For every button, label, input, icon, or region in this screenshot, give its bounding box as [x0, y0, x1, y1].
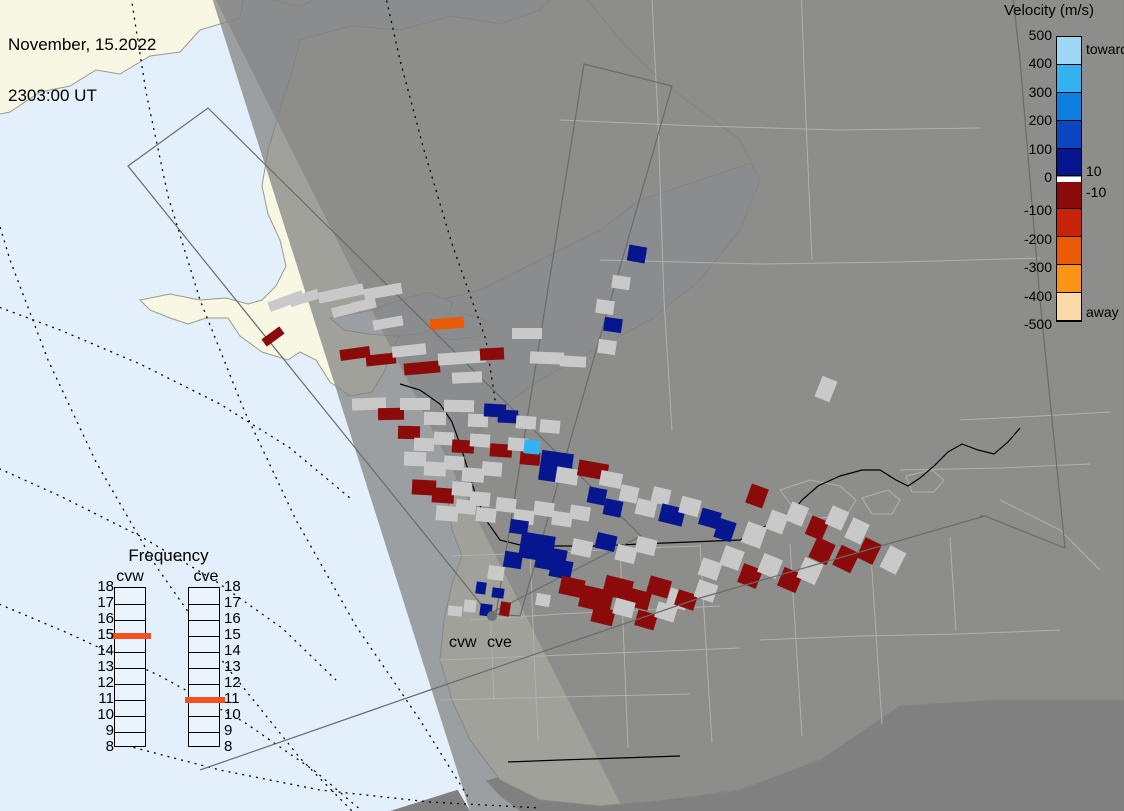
- velocity-colorbar: Velocity (m/s) 5004003002001000-100-200-…: [1000, 2, 1124, 332]
- frequency-column-cvw: cvw18171615141312111098: [98, 568, 162, 747]
- timestamp-date: November, 15.2022: [8, 36, 156, 53]
- colorbar-away-label: away: [1086, 304, 1119, 320]
- frequency-tick-label: 16: [224, 610, 241, 627]
- colorbar-swatch: [1057, 121, 1081, 149]
- frequency-legend-title: Frequency: [86, 546, 251, 566]
- frequency-tick-label: 9: [224, 722, 232, 739]
- colorbar-swatch: [1057, 293, 1081, 321]
- velocity-cell-noscatter: [444, 400, 474, 413]
- frequency-scale-divider: [115, 732, 145, 733]
- velocity-cell: [491, 587, 504, 599]
- frequency-scale-divider: [115, 716, 145, 717]
- frequency-marker-cve: [185, 697, 225, 703]
- frequency-tick-label: 12: [224, 674, 241, 691]
- colorbar-swatch: [1057, 209, 1081, 237]
- colorbar-tick-label: -100: [1000, 202, 1052, 218]
- frequency-tick-label: 9: [106, 722, 114, 739]
- velocity-cell-noscatter: [448, 605, 463, 616]
- velocity-cell: [475, 581, 487, 594]
- velocity-cell-noscatter: [424, 461, 447, 476]
- velocity-cell: [523, 439, 540, 455]
- frequency-tick-label: 15: [97, 626, 114, 643]
- frequency-scale-divider: [189, 668, 219, 669]
- radar-site-marker: [487, 611, 497, 621]
- timestamp: November, 15.2022 2303:00 UT: [8, 2, 156, 138]
- velocity-cell-noscatter: [512, 328, 542, 339]
- velocity-cell: [498, 409, 519, 423]
- velocity-cell: [432, 487, 455, 503]
- colorbar-tick-label: -200: [1000, 231, 1052, 247]
- velocity-cell-noscatter: [560, 355, 587, 367]
- colorbar-title: Velocity (m/s): [1004, 2, 1124, 19]
- frequency-scale-divider: [189, 620, 219, 621]
- velocity-cell-noscatter: [463, 599, 476, 612]
- colorbar-tick-label: -400: [1000, 288, 1052, 304]
- frequency-tick-label: 10: [97, 706, 114, 723]
- velocity-cell-noscatter: [452, 371, 483, 384]
- velocity-cell: [398, 426, 420, 439]
- velocity-cell-noscatter: [481, 461, 502, 477]
- frequency-scale-divider: [115, 700, 145, 701]
- velocity-cell: [480, 347, 505, 360]
- velocity-cell-noscatter: [404, 452, 426, 467]
- frequency-scale-divider: [189, 732, 219, 733]
- colorbar-tick-label: 500: [1000, 27, 1052, 43]
- frequency-tick-label: 14: [224, 642, 241, 659]
- velocity-cell-noscatter: [595, 299, 615, 315]
- velocity-cell-noscatter: [435, 505, 458, 522]
- colorbar-tick-label: -300: [1000, 259, 1052, 275]
- frequency-tick-label: 12: [97, 674, 114, 691]
- velocity-cell-noscatter: [451, 481, 472, 497]
- frequency-scale-divider: [189, 716, 219, 717]
- velocity-cell-noscatter: [516, 415, 537, 429]
- velocity-cell: [627, 245, 648, 264]
- frequency-scale-divider: [115, 604, 145, 605]
- frequency-scale-divider: [189, 604, 219, 605]
- frequency-marker-cvw: [111, 633, 151, 639]
- velocity-cell-noscatter: [414, 438, 434, 452]
- frequency-tick-label: 17: [97, 594, 114, 611]
- frequency-tick-label: 8: [106, 738, 114, 755]
- frequency-tick-label: 14: [97, 642, 114, 659]
- frequency-tick-label: 13: [224, 658, 241, 675]
- frequency-scale-divider: [189, 684, 219, 685]
- frequency-column-cve: cve18171615141312111098: [174, 568, 238, 747]
- velocity-cell-noscatter: [487, 565, 505, 581]
- colorbar-swatch: [1057, 93, 1081, 121]
- frequency-scale-divider: [115, 668, 145, 669]
- velocity-cell: [503, 551, 523, 570]
- frequency-scale-box: [188, 587, 220, 747]
- frequency-tick-label: 8: [224, 738, 232, 755]
- frequency-tick-label: 18: [97, 578, 114, 595]
- colorbar-minus10-label: -10: [1086, 184, 1106, 200]
- site-label-cve: cve: [487, 634, 512, 652]
- frequency-tick-label: 15: [224, 626, 241, 643]
- colorbar-swatch: [1057, 265, 1081, 293]
- frequency-scale-box: [114, 587, 146, 747]
- frequency-legend: Frequency cvw18171615141312111098cve1817…: [86, 546, 251, 786]
- colorbar-tick-label: 200: [1000, 112, 1052, 128]
- colorbar-gradient: [1056, 36, 1082, 322]
- velocity-cell-noscatter: [400, 398, 430, 410]
- velocity-cell-noscatter: [539, 419, 560, 434]
- velocity-cell-noscatter: [551, 511, 573, 528]
- frequency-tick-label: 16: [97, 610, 114, 627]
- colorbar-tick-label: 100: [1000, 141, 1052, 157]
- colorbar-toward-label: toward: [1086, 41, 1124, 57]
- velocity-cell: [587, 486, 608, 505]
- velocity-cell-noscatter: [597, 339, 617, 355]
- frequency-tick-label: 10: [224, 706, 241, 723]
- frequency-scale-divider: [189, 652, 219, 653]
- velocity-cell-noscatter: [611, 275, 631, 290]
- colorbar-tick-label: 300: [1000, 84, 1052, 100]
- velocity-cell-noscatter: [535, 593, 551, 607]
- velocity-cell-noscatter: [533, 501, 555, 518]
- timestamp-time: 2303:00 UT: [8, 87, 156, 104]
- velocity-cell-noscatter: [475, 507, 496, 523]
- colorbar-swatch: [1057, 149, 1081, 177]
- colorbar-swatch: [1057, 182, 1081, 210]
- colorbar-swatch: [1057, 65, 1081, 93]
- frequency-scale-divider: [115, 652, 145, 653]
- colorbar-plus10-label: 10: [1086, 163, 1102, 179]
- site-label-cvw: cvw: [449, 634, 477, 652]
- frequency-tick-label: 13: [97, 658, 114, 675]
- colorbar-tick-label: 400: [1000, 55, 1052, 71]
- superdarn-velocity-map: November, 15.2022 2303:00 UT Velocity (m…: [0, 0, 1124, 811]
- colorbar-tick-label: 0: [1000, 169, 1052, 185]
- velocity-cell-noscatter: [455, 499, 476, 515]
- colorbar-swatch: [1057, 237, 1081, 265]
- frequency-scale-divider: [189, 636, 219, 637]
- frequency-tick-label: 17: [224, 594, 241, 611]
- velocity-cell: [603, 317, 623, 333]
- frequency-tick-label: 18: [224, 578, 241, 595]
- frequency-tick-label: 11: [224, 690, 240, 707]
- velocity-cell-noscatter: [444, 455, 465, 470]
- velocity-cell-noscatter: [530, 351, 564, 364]
- frequency-scale-divider: [115, 620, 145, 621]
- velocity-cell-noscatter: [434, 431, 455, 445]
- velocity-cell-noscatter: [470, 433, 491, 447]
- colorbar-tick-label: -500: [1000, 316, 1052, 332]
- velocity-cell-noscatter: [462, 467, 485, 483]
- velocity-cell-noscatter: [555, 466, 579, 485]
- velocity-cell-noscatter: [424, 412, 446, 425]
- frequency-tick-label: 11: [98, 690, 114, 707]
- colorbar-swatch: [1057, 37, 1081, 65]
- frequency-scale-divider: [115, 684, 145, 685]
- velocity-cell-noscatter: [495, 497, 517, 513]
